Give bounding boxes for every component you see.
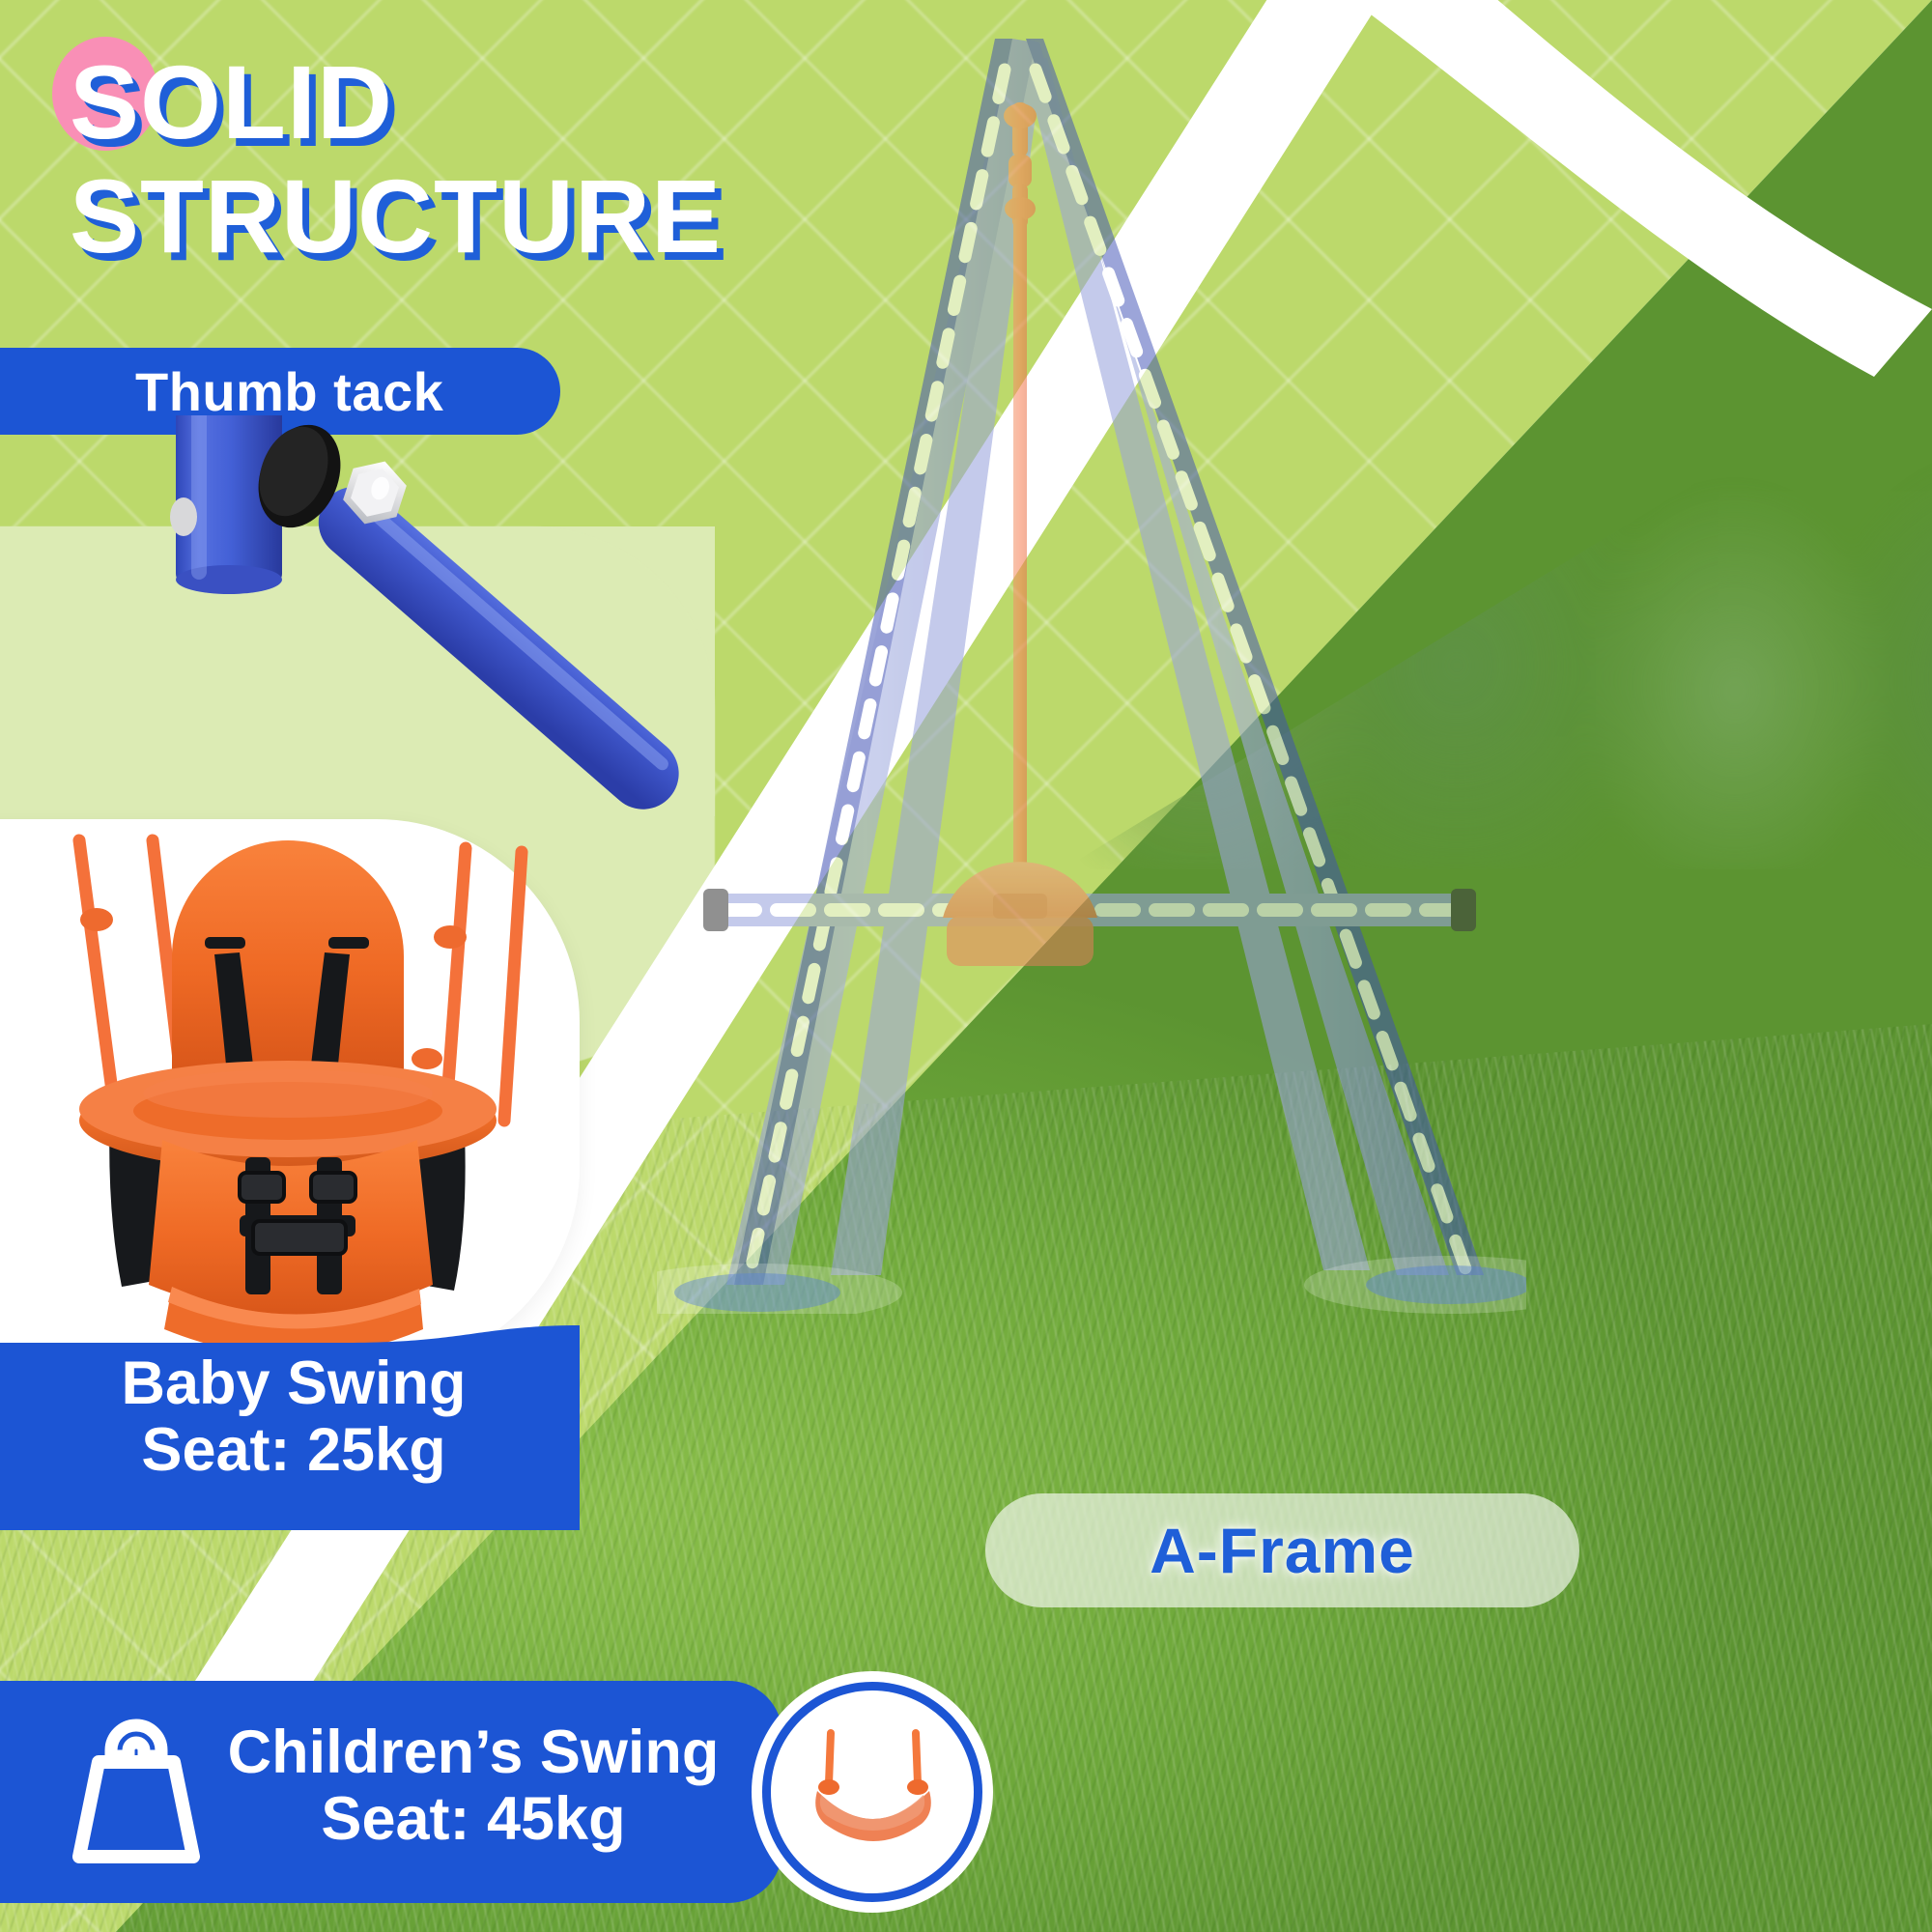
title-line-2: STRUCTURE <box>70 164 1132 269</box>
baby-swing-seat-image <box>10 831 560 1372</box>
children-swing-line-2: Seat: 45kg <box>222 1786 724 1853</box>
baby-swing-line-2: Seat: 25kg <box>23 1417 564 1484</box>
swing-seat-glyph <box>771 1690 974 1893</box>
swing-seat-circle-icon <box>771 1690 974 1893</box>
page-title: SOLID STRUCTURE <box>70 50 1132 269</box>
baby-swing-line-1: Baby Swing <box>23 1350 564 1417</box>
thumb-tack-product-image <box>135 415 831 831</box>
children-swing-line-1: Children’s Swing <box>222 1719 724 1786</box>
thumb-tack-label: Thumb tack <box>135 360 443 423</box>
title-line-1: SOLID <box>70 43 393 160</box>
infographic-canvas: SOLID STRUCTURE Thumb tack <box>0 0 1932 1932</box>
a-frame-label-pill: A-Frame <box>985 1493 1579 1607</box>
a-frame-label: A-Frame <box>1150 1514 1415 1587</box>
weight-icon <box>64 1716 209 1870</box>
children-swing-spec-text: Children’s Swing Seat: 45kg <box>222 1719 724 1854</box>
baby-swing-spec-text: Baby Swing Seat: 25kg <box>23 1350 564 1485</box>
